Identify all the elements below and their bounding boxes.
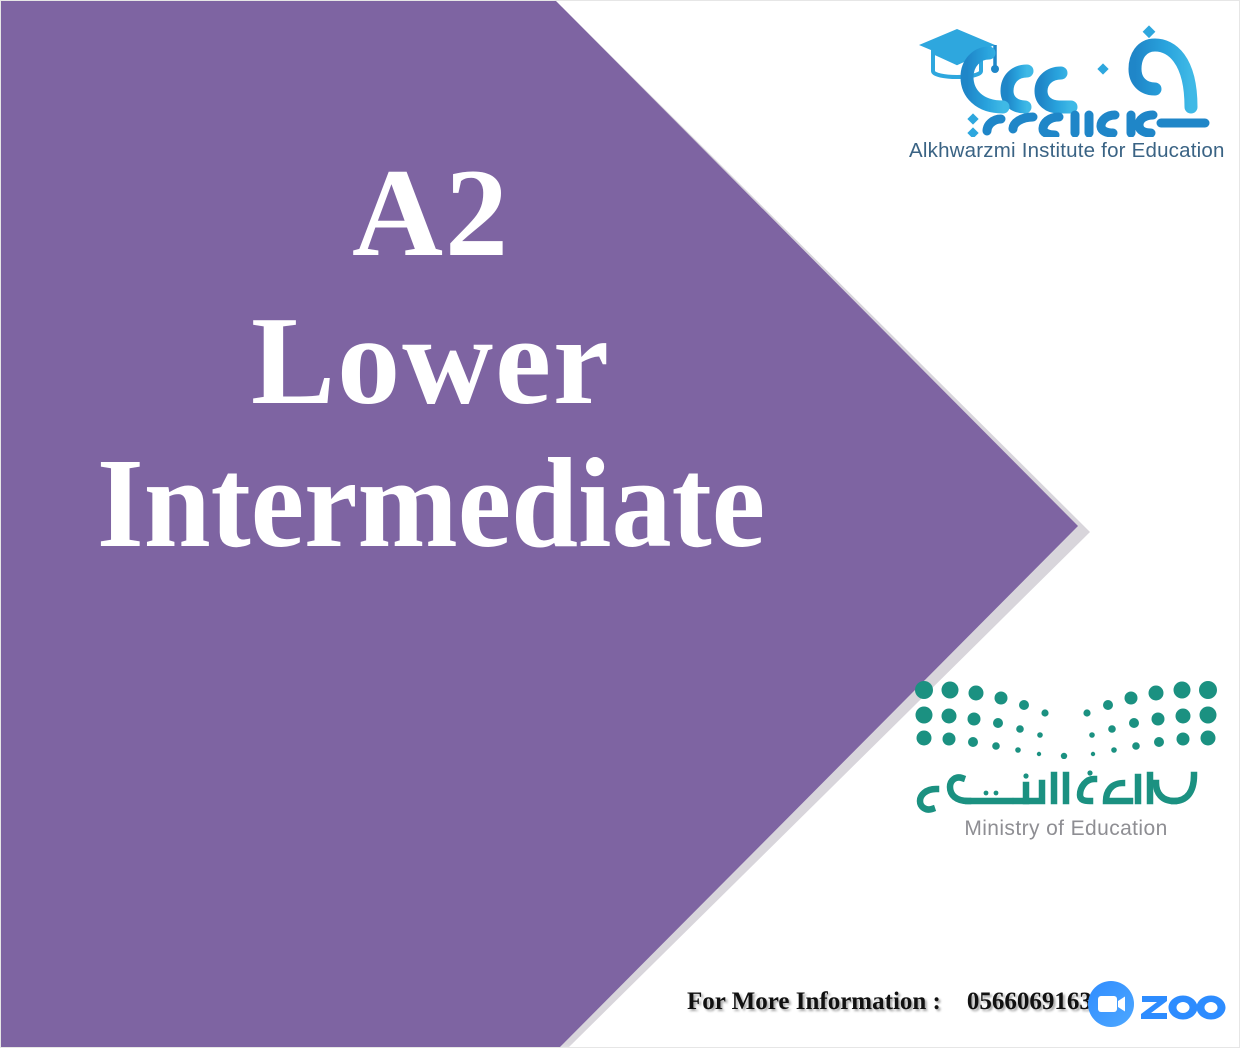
ministry-arabic-name (906, 767, 1226, 815)
zoom-wordmark (1141, 996, 1226, 1020)
contact-info: For More Information :0566069163 (687, 988, 1092, 1016)
alkhwarzmi-arabic-wordmark (909, 19, 1221, 137)
ministry-english-name: Ministry of Education (906, 817, 1226, 841)
contact-label: For More Information : (687, 988, 941, 1015)
alkhwarzmi-institute-name: Alkhwarzmi Institute for Education (909, 139, 1221, 163)
contact-phone-number[interactable]: 0566069163 (967, 988, 1092, 1015)
zoom-logo (1087, 980, 1227, 1028)
palm-dots-icon (906, 677, 1226, 759)
slide-canvas: A2 Lower Intermediate (0, 0, 1240, 1048)
video-camera-icon (1088, 981, 1134, 1027)
ministry-of-education-logo: Ministry of Education (906, 677, 1226, 841)
alkhwarzmi-institute-logo: Alkhwarzmi Institute for Education (909, 19, 1221, 163)
